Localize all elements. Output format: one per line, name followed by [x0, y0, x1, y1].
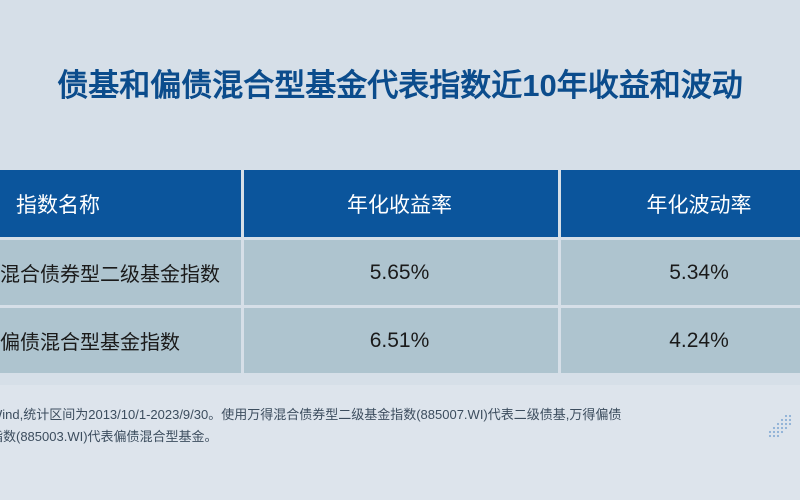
footnote-line-2: 指数(885003.WI)代表偏债混合型基金。: [0, 426, 780, 448]
table-header-row: 指数名称 年化收益率 年化波动率: [0, 170, 800, 237]
footnote-line-1: Wind,统计区间为2013/10/1-2023/9/30。使用万得混合债券型二…: [0, 407, 621, 422]
table-row: 偏债混合型基金指数 6.51% 4.24%: [0, 308, 800, 373]
table-row: 混合债券型二级基金指数 5.65% 5.34%: [0, 240, 800, 305]
column-header-index-name: 指数名称: [0, 170, 241, 237]
dot-pattern-icon: [766, 412, 792, 438]
cell-index-name: 混合债券型二级基金指数: [0, 240, 241, 305]
cell-annual-return: 6.51%: [241, 308, 558, 373]
cell-annual-return: 5.65%: [241, 240, 558, 305]
column-header-annual-return: 年化收益率: [241, 170, 558, 237]
slide-title: 债基和偏债混合型基金代表指数近10年收益和波动: [0, 62, 800, 110]
footnote: Wind,统计区间为2013/10/1-2023/9/30。使用万得混合债券型二…: [0, 404, 780, 448]
cell-annual-volatility: 5.34%: [558, 240, 800, 305]
row-column-divider-1: [241, 170, 244, 373]
cell-annual-volatility: 4.24%: [558, 308, 800, 373]
cell-index-name: 偏债混合型基金指数: [0, 308, 241, 373]
column-header-annual-volatility: 年化波动率: [558, 170, 800, 237]
comparison-table: 指数名称 年化收益率 年化波动率 混合债券型二级基金指数 5.65% 5.34%…: [0, 170, 800, 373]
row-column-divider-2: [558, 170, 561, 373]
